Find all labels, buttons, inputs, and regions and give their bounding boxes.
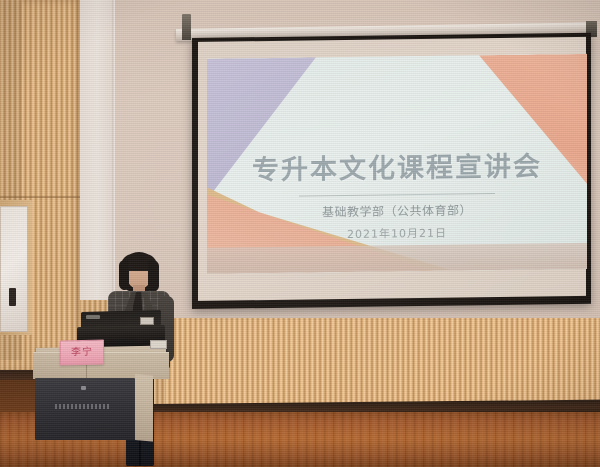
wall-mount-bracket — [182, 14, 191, 40]
speaker-hair-left — [119, 260, 129, 290]
laptop-logo-icon — [86, 315, 100, 319]
podium-knob-icon[interactable] — [81, 386, 86, 390]
slide-divider-rule — [299, 193, 495, 197]
presentation-slide: 专升本文化课程宣讲会 基础教学部（公共体育部） 2021年10月21日 — [207, 54, 587, 274]
slide-text-block: 专升本文化课程宣讲会 基础教学部（公共体育部） 2021年10月21日 — [207, 144, 587, 244]
slide-subtitle: 基础教学部（公共体育部） — [207, 200, 587, 222]
wood-panel-seam — [0, 196, 80, 198]
equipment-label-tag — [140, 317, 154, 325]
lecture-hall-photo: 专升本文化课程宣讲会 基础教学部（公共体育部） 2021年10月21日 — [0, 0, 600, 467]
slide-title: 专升本文化课程宣讲会 — [207, 144, 587, 188]
slide-shape-bottom-band — [207, 243, 587, 274]
wall-whiteboard-panel — [0, 206, 28, 332]
podium-vent-grille — [55, 404, 111, 409]
speaker-name-badge — [150, 340, 167, 349]
panel-handle-icon[interactable] — [9, 288, 16, 306]
speaker-hair-right — [148, 260, 159, 292]
podium-side-panel — [135, 374, 153, 442]
projection-screen: 专升本文化课程宣讲会 基础教学部（公共体育部） 2021年10月21日 — [192, 33, 591, 309]
screen-surface: 专升本文化课程宣讲会 基础教学部（公共体育部） 2021年10月21日 — [198, 37, 586, 301]
podium-name-card-text: 李宁 — [71, 347, 93, 358]
podium-name-card: 李宁 — [60, 339, 104, 365]
